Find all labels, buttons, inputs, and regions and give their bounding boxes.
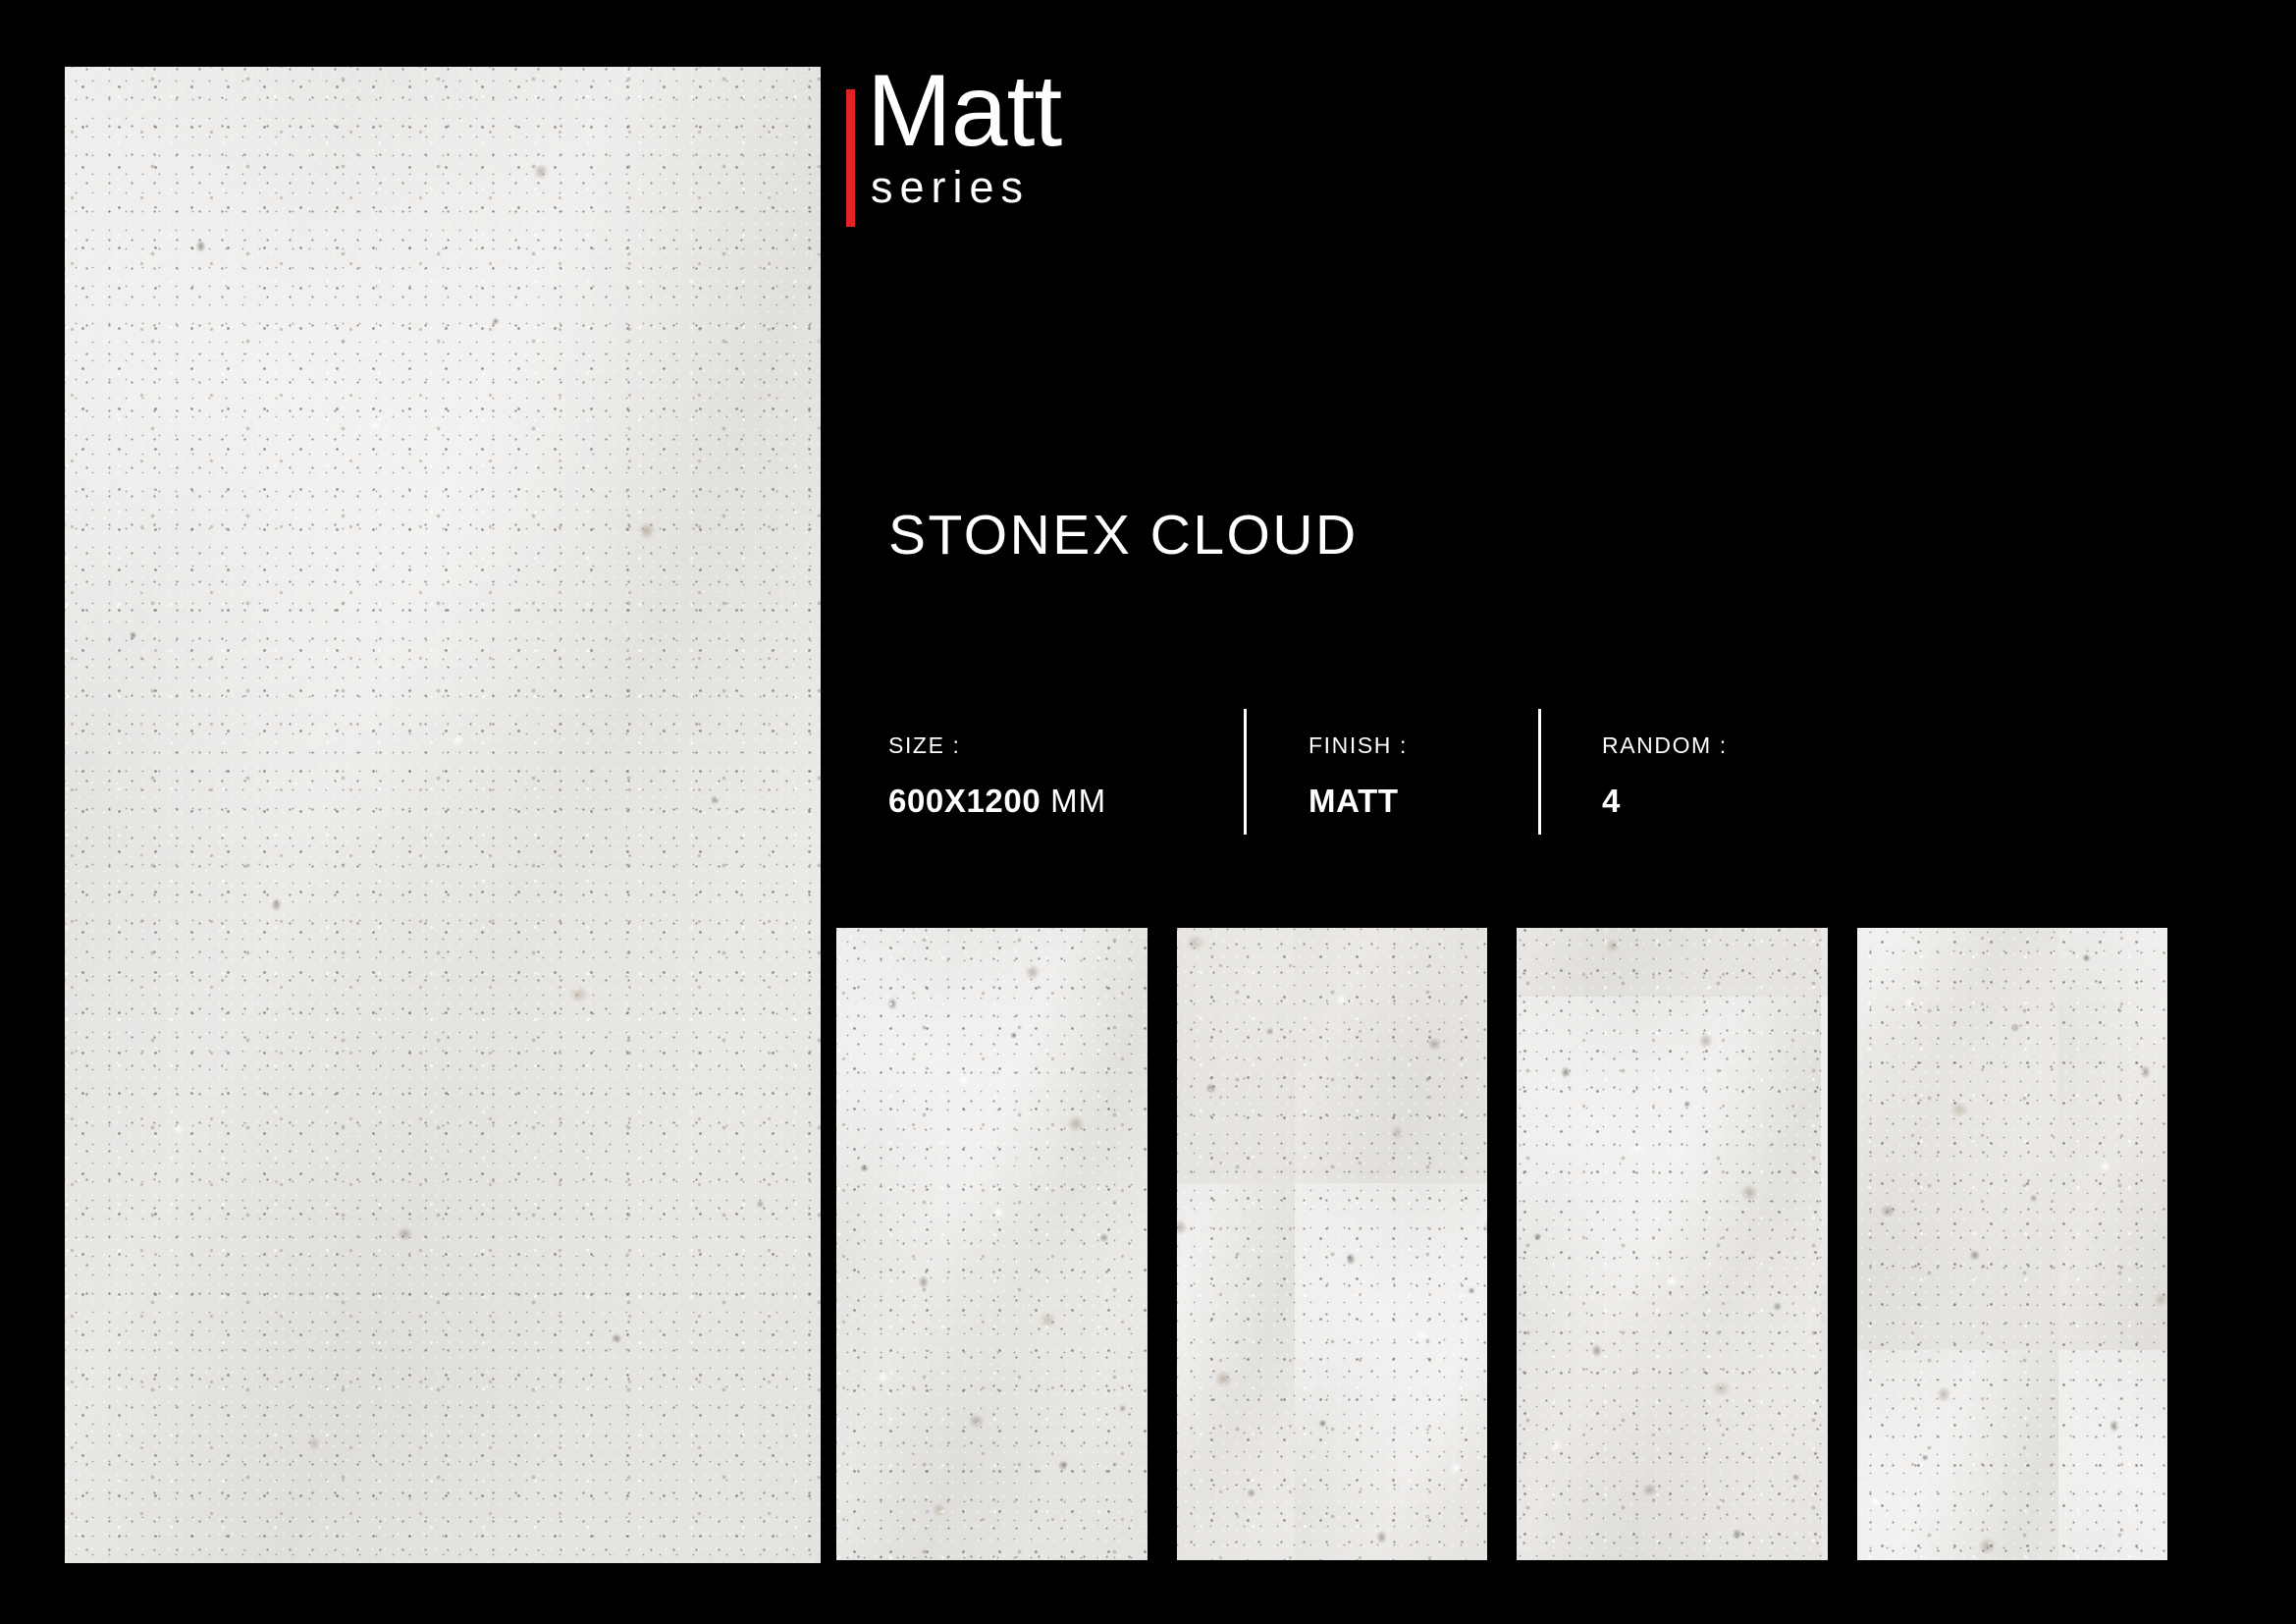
brand-title: Matt	[867, 65, 1061, 159]
catalog-page: Matt series STONEX CLOUD SIZE : 600X1200…	[0, 0, 2296, 1624]
main-tile-swatch	[65, 67, 821, 1563]
spec-finish-label: FINISH :	[1308, 732, 1538, 759]
brand-logo: Matt series	[846, 65, 1061, 227]
thumbnail-face-1	[836, 928, 1148, 1560]
spec-size-value: 600X1200 MM	[888, 783, 1244, 820]
spec-size-label: SIZE :	[888, 732, 1244, 759]
brand-logo-text: Matt series	[867, 65, 1061, 209]
thumbnail-strip	[836, 928, 2167, 1560]
product-name: STONEX CLOUD	[888, 503, 1359, 568]
thumbnail-face-3	[1517, 928, 1828, 1560]
spec-size: SIZE : 600X1200 MM	[888, 705, 1244, 839]
specification-row: SIZE : 600X1200 MM FINISH : MATT RANDOM …	[888, 705, 1836, 839]
spec-size-unit: MM	[1050, 783, 1106, 819]
spec-random-label: RANDOM :	[1602, 732, 1836, 759]
thumbnail-face-2	[1177, 928, 1488, 1560]
thumbnail-face-4	[1857, 928, 2168, 1560]
spec-finish-value: MATT	[1308, 783, 1538, 820]
spec-finish: FINISH : MATT	[1247, 705, 1538, 839]
red-accent-bar-icon	[846, 89, 855, 227]
spec-random-value: 4	[1602, 783, 1836, 820]
brand-subtitle: series	[871, 165, 1061, 209]
spec-size-number: 600X1200	[888, 783, 1041, 819]
spec-random: RANDOM : 4	[1541, 705, 1836, 839]
